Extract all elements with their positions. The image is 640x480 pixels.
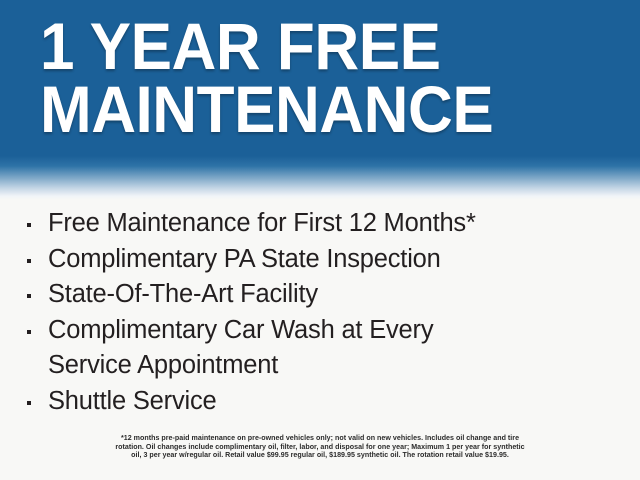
offer-text: Free Maintenance for First 12 Months* [48, 206, 624, 242]
headline-banner: 1 YEAR FREE MAINTENANCE [0, 0, 640, 200]
bullet-square-icon [24, 206, 48, 242]
offer-text-main: Complimentary PA State Inspection [48, 245, 441, 273]
disclaimer-line-3: oil, 3 per year w/regular oil. Retail va… [50, 451, 590, 460]
list-item: Free Maintenance for First 12 Months* [24, 206, 624, 242]
offer-text-main: Complimentary Car Wash at Every [48, 316, 433, 344]
disclaimer-line-1: *12 months pre-paid maintenance on pre-o… [50, 434, 590, 443]
headline-line-1: 1 YEAR FREE [40, 16, 604, 77]
disclaimer-line-2: rotation. Oil changes include compliment… [50, 443, 590, 452]
offer-text-main: Shuttle Service [48, 387, 217, 415]
bullet-square-icon [24, 384, 48, 420]
list-item: Complimentary PA State Inspection [24, 242, 624, 278]
headline: 1 YEAR FREE MAINTENANCE [0, 0, 640, 141]
offer-text-main: Free Maintenance for First 12 Months* [48, 209, 476, 237]
legal-disclaimer: *12 months pre-paid maintenance on pre-o… [50, 434, 590, 460]
offer-text-continuation: Service Appointment [48, 348, 624, 384]
bullet-square-icon [24, 313, 48, 349]
bullet-square-icon [24, 242, 48, 278]
headline-line-2: MAINTENANCE [40, 79, 604, 140]
offer-list: Free Maintenance for First 12 Months* Co… [24, 206, 624, 420]
list-item: Shuttle Service [24, 384, 624, 420]
list-item: Complimentary Car Wash at Every Service … [24, 313, 624, 384]
offer-text: Shuttle Service [48, 384, 624, 420]
advertisement-graphic: 1 YEAR FREE MAINTENANCE Free Maintenance… [0, 0, 640, 480]
offer-text: Complimentary PA State Inspection [48, 242, 624, 278]
list-item: State-Of-The-Art Facility [24, 277, 624, 313]
offer-text: Complimentary Car Wash at Every Service … [48, 313, 624, 384]
offer-text: State-Of-The-Art Facility [48, 277, 624, 313]
offer-text-main: State-Of-The-Art Facility [48, 280, 318, 308]
bullet-square-icon [24, 277, 48, 313]
